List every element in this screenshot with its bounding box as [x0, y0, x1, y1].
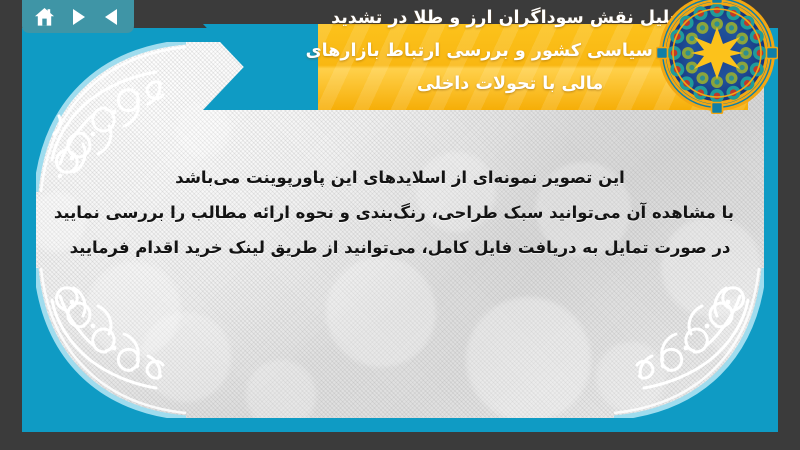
body-line: با مشاهده آن می‌توانید سبک طراحی، رنگ‌بن…: [66, 195, 734, 230]
triangle-left-icon: [103, 8, 120, 26]
previous-slide-button[interactable]: [98, 5, 124, 29]
slide-body-text: این تصویر نمونه‌ای از اسلایدهای این پاور…: [66, 160, 734, 265]
bokeh-circle: [466, 297, 591, 418]
bokeh-circle: [596, 342, 666, 412]
slide-navigation-toolbar: [22, 0, 134, 33]
bokeh-circle: [326, 257, 436, 367]
bokeh-circle: [246, 360, 316, 418]
slide-canvas: این تصویر نمونه‌ای از اسلایدهای این پاور…: [36, 42, 764, 418]
body-line: این تصویر نمونه‌ای از اسلایدهای این پاور…: [66, 160, 734, 195]
home-button[interactable]: [32, 5, 58, 29]
bokeh-circle: [176, 102, 231, 157]
next-slide-button[interactable]: [65, 5, 91, 29]
slide-frame: این تصویر نمونه‌ای از اسلایدهای این پاور…: [22, 28, 778, 432]
bokeh-circle: [706, 297, 764, 357]
triangle-right-icon: [70, 8, 87, 26]
home-icon: [34, 7, 55, 27]
body-line: در صورت تمایل به دریافت فایل کامل، می‌تو…: [66, 230, 734, 265]
slide-viewer: این تصویر نمونه‌ای از اسلایدهای این پاور…: [0, 0, 800, 450]
bokeh-circle: [141, 312, 231, 402]
